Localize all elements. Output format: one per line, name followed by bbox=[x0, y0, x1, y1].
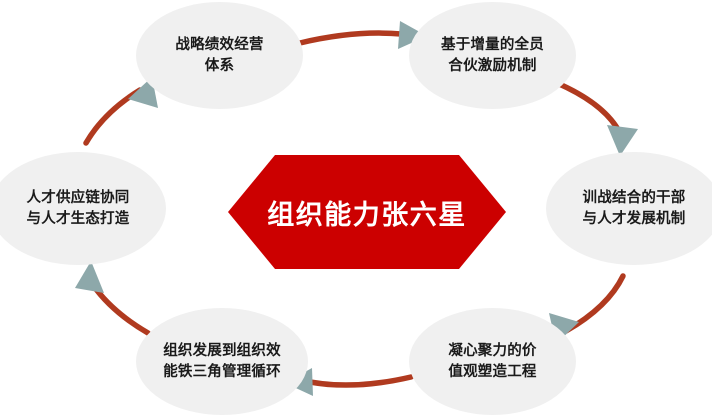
node-label: 训战结合的干部 与人才发展机制 bbox=[575, 188, 694, 229]
arrow-left-to-topleft bbox=[86, 77, 158, 143]
arrow-topright-to-right bbox=[557, 83, 638, 156]
center-hexagon[interactable]: 组织能力张六星 bbox=[228, 155, 506, 269]
node-label: 战略绩效经营 体系 bbox=[167, 35, 271, 76]
node-talent-supply-chain[interactable]: 人才供应链协同 与人才生态打造 bbox=[0, 152, 166, 265]
node-values-shaping-project[interactable]: 凝心聚力的价 值观塑造工程 bbox=[409, 308, 576, 415]
node-strategy-performance[interactable]: 战略绩效经营 体系 bbox=[136, 2, 303, 109]
node-label: 凝心聚力的价 值观塑造工程 bbox=[440, 341, 544, 382]
arrow-topleft-to-topright bbox=[300, 21, 427, 49]
node-label: 基于增量的全员 合伙激励机制 bbox=[433, 35, 552, 76]
node-label: 人才供应链协同 与人才生态打造 bbox=[19, 188, 138, 229]
diagram-canvas: 战略绩效经营 体系 基于增量的全员 合伙激励机制 训战结合的干部 与人才发展机制… bbox=[0, 0, 712, 417]
node-label: 组织发展到组织效 能铁三角管理循环 bbox=[155, 341, 289, 382]
node-org-effectiveness-triangle[interactable]: 组织发展到组织效 能铁三角管理循环 bbox=[136, 308, 308, 415]
center-hexagon-label: 组织能力张六星 bbox=[228, 155, 506, 269]
arrow-bottomleft-to-left bbox=[75, 261, 148, 333]
node-incremental-partner-incentive[interactable]: 基于增量的全员 合伙激励机制 bbox=[409, 2, 576, 109]
node-training-battle-talent[interactable]: 训战结合的干部 与人才发展机制 bbox=[546, 152, 712, 265]
